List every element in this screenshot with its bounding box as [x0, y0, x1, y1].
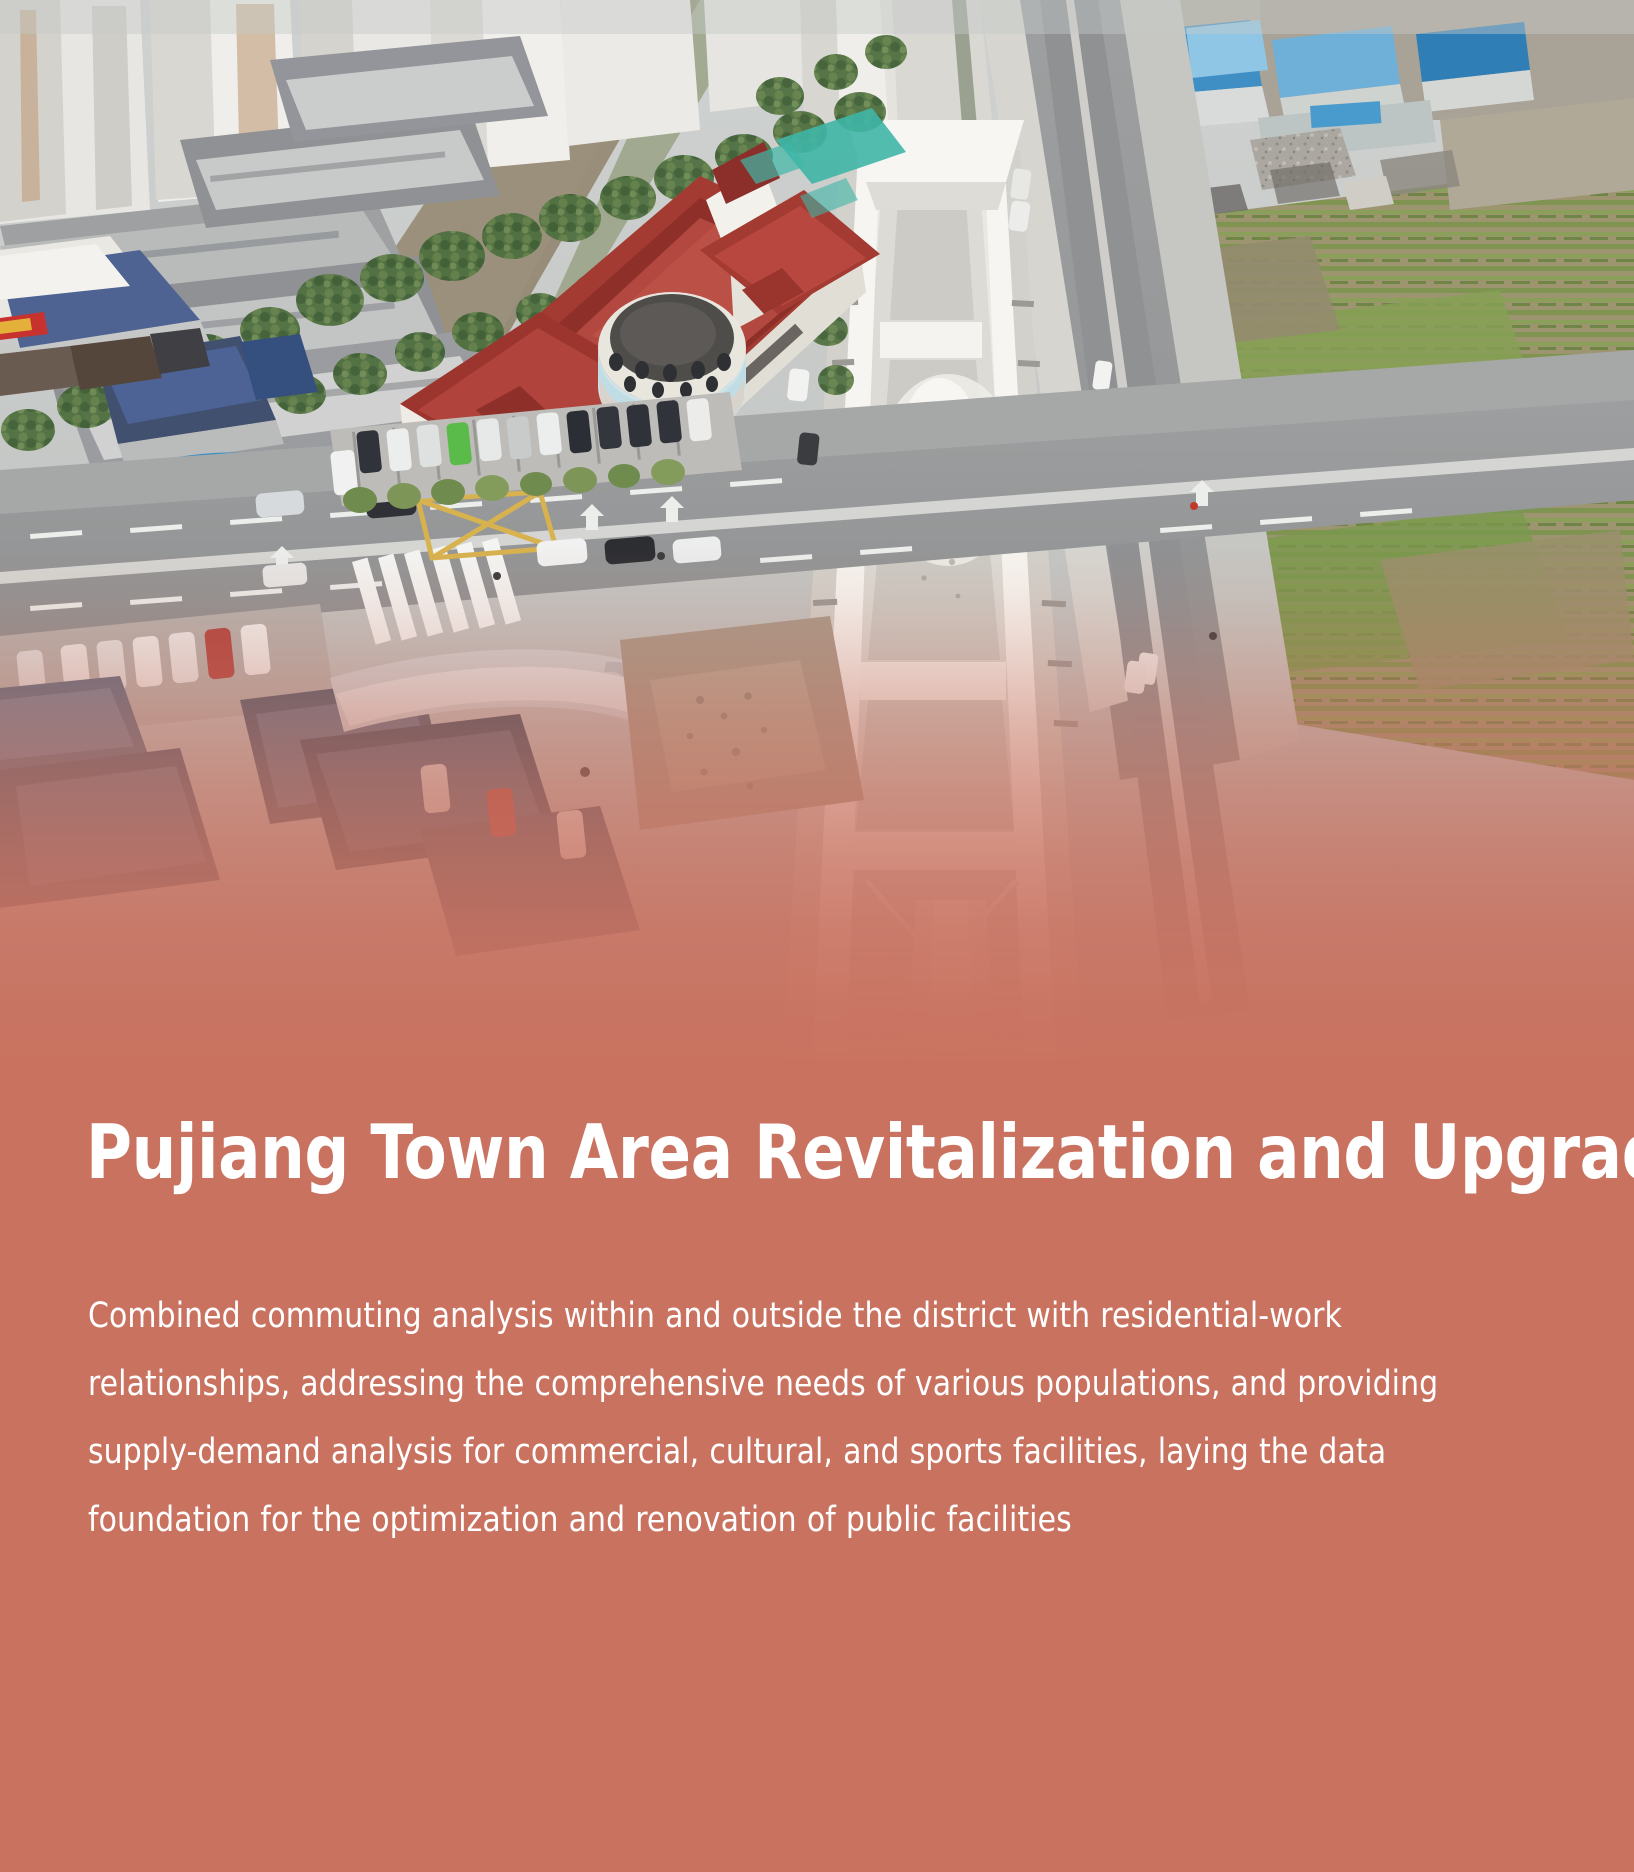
- hero-page: Pujiang Town Area Revitalization and Upg…: [0, 0, 1634, 1872]
- hero-description: Combined commuting analysis within and o…: [88, 1282, 1448, 1554]
- page-title: Pujiang Town Area Revitalization and Upg…: [86, 1108, 1453, 1196]
- aerial-photo-pujiang-town: [0, 0, 1634, 1130]
